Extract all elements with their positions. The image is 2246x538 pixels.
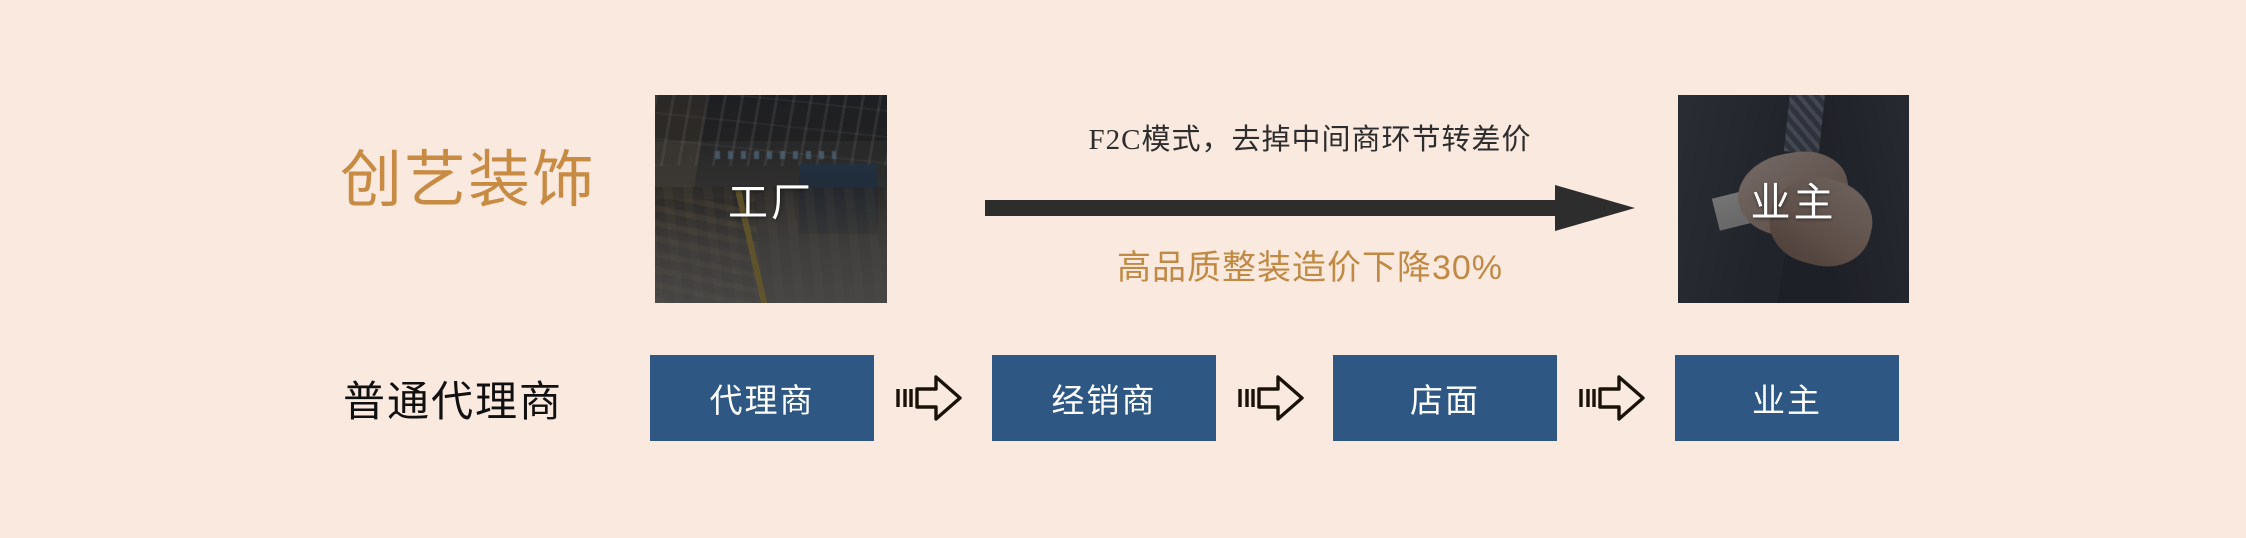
brand-name: 创艺装饰 — [340, 150, 596, 212]
chain-step-store: 店面 — [1333, 355, 1557, 441]
chain-step-owner: 业主 — [1675, 355, 1899, 441]
infographic-canvas: 创艺装饰 工厂 F2C模式，去掉中间商环节转差价 高品质整装造价下降30% — [0, 0, 2246, 538]
chain-step-label: 业主 — [1752, 374, 1822, 422]
cost-reduction-label: 高品质整装造价下降30% — [985, 240, 1635, 289]
long-right-arrow-icon — [985, 185, 1635, 231]
chain-step-label: 经销商 — [1052, 374, 1157, 422]
chain-step-distributor: 经销商 — [992, 355, 1216, 441]
owner-photo: 业主 — [1678, 95, 1909, 303]
outlined-right-arrow-icon — [1579, 372, 1645, 424]
f2c-model-label: F2C模式，去掉中间商环节转差价 — [985, 116, 1635, 158]
chain-step-agent: 代理商 — [650, 355, 874, 441]
factory-photo-caption: 工厂 — [655, 95, 887, 303]
owner-photo-caption: 业主 — [1678, 95, 1909, 303]
outlined-right-arrow-icon — [896, 372, 962, 424]
outlined-right-arrow-icon — [1238, 372, 1304, 424]
chain-step-label: 店面 — [1410, 374, 1480, 422]
agent-chain-label: 普通代理商 — [343, 368, 563, 429]
factory-photo: 工厂 — [655, 95, 887, 303]
chain-step-label: 代理商 — [710, 374, 815, 422]
